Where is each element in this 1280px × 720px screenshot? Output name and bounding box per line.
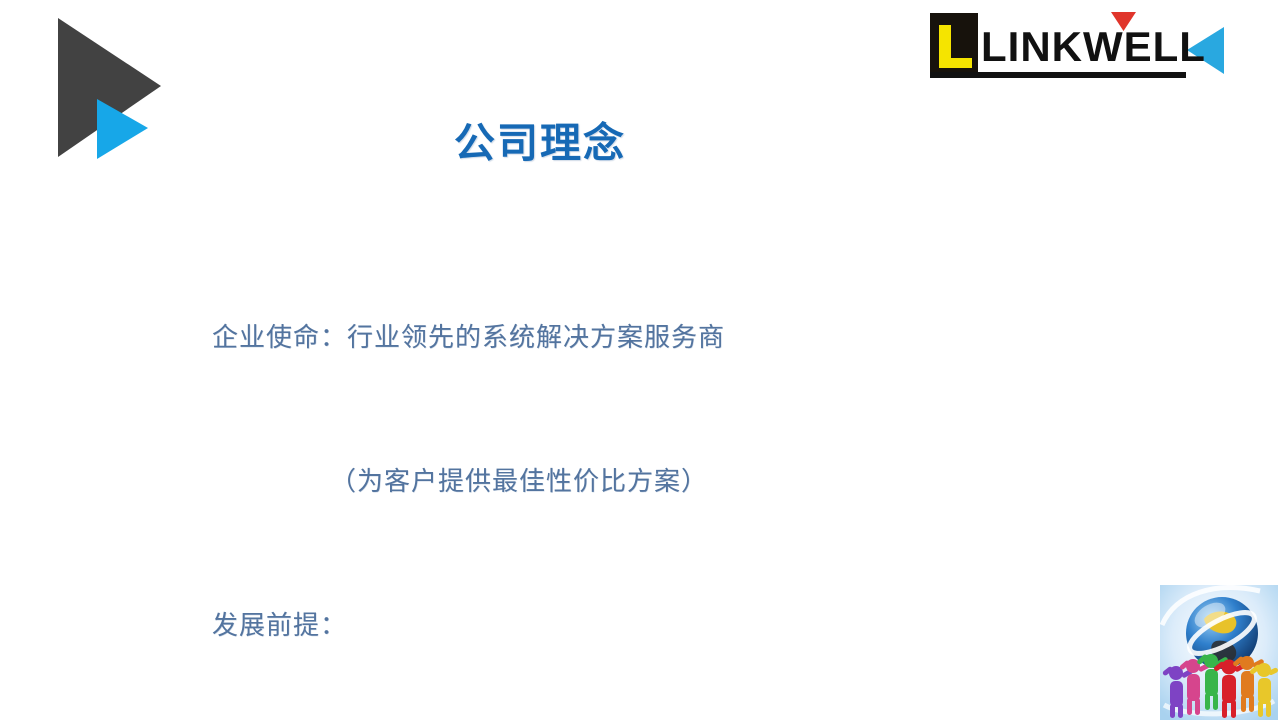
logo-underline: [930, 72, 1186, 78]
body-copy: 企业使命：行业领先的系统解决方案服务商 （为客户提供最佳性价比方案） 发展前提：…: [212, 218, 1112, 720]
page-title: 公司理念: [0, 109, 1080, 169]
body-line-premise-label: 发展前提：: [212, 602, 1112, 650]
teamwork-globe-clipart: [1160, 585, 1278, 720]
slide-canvas: LINKWELL 公司理念 企业使命：行业领先的系统解决方案服务商 （为客户提供…: [0, 0, 1280, 720]
body-line-mission: 企业使命：行业领先的系统解决方案服务商: [212, 314, 1112, 362]
logo-wordmark: LINKWELL: [981, 26, 1206, 68]
linkwell-logo: LINKWELL: [925, 8, 1225, 90]
body-line-mission-note: （为客户提供最佳性价比方案）: [212, 458, 1112, 506]
